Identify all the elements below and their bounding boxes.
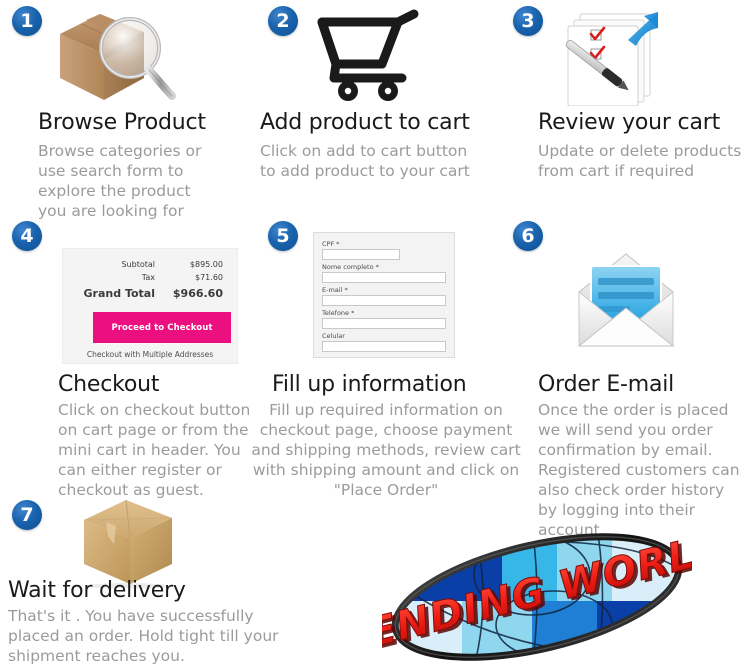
step-badge-2: 2 <box>268 6 298 36</box>
tax-value: $71.60 <box>167 272 223 283</box>
step-desc-6: Once the order is placed we will send yo… <box>538 400 743 540</box>
step-badge-4: 4 <box>12 221 42 251</box>
email-input[interactable] <box>322 295 446 306</box>
step-title-7: Wait for delivery <box>8 578 186 603</box>
cart-totals-table: Subtotal $895.00 Tax $71.60 Grand Total … <box>75 257 225 303</box>
step-desc-3: Update or delete products from cart if r… <box>538 141 743 181</box>
checkout-multiple-addresses-link[interactable]: Checkout with Multiple Addresses <box>75 350 225 359</box>
checkout-form-panel: CPF * Nome completo * E-mail * Telefone … <box>313 232 455 358</box>
step-desc-7: That's it . You have successfully placed… <box>8 606 298 666</box>
how-to-order-infographic: 1 <box>0 0 750 670</box>
step-badge-7: 7 <box>12 500 42 530</box>
telefone-label: Telefone * <box>322 309 446 317</box>
form-field-nome-completo: Nome completo * <box>322 263 446 283</box>
celular-input[interactable] <box>322 341 446 352</box>
table-row: Subtotal $895.00 <box>77 259 223 270</box>
table-row: Grand Total $966.60 <box>77 285 223 301</box>
step-badge-1: 1 <box>12 6 42 36</box>
table-row: Tax $71.60 <box>77 272 223 283</box>
step-title-3: Review your cart <box>538 110 720 135</box>
step-title-1: Browse Product <box>38 110 206 135</box>
step-badge-6: 6 <box>513 221 543 251</box>
nome-completo-label: Nome completo * <box>322 263 446 271</box>
cart-summary-panel: Subtotal $895.00 Tax $71.60 Grand Total … <box>62 248 238 364</box>
step-title-2: Add product to cart <box>260 110 470 135</box>
email-label: E-mail * <box>322 286 446 294</box>
cpf-input[interactable] <box>322 249 400 260</box>
nome-completo-input[interactable] <box>322 272 446 283</box>
step-title-4: Checkout <box>58 372 159 397</box>
shipping-box-icon <box>72 498 182 588</box>
subtotal-value: $895.00 <box>167 259 223 270</box>
open-envelope-icon <box>565 248 687 360</box>
step-badge-3: 3 <box>513 6 543 36</box>
grand-total-value: $966.60 <box>167 285 223 301</box>
step-desc-2: Click on add to cart button to add produ… <box>260 141 475 181</box>
form-field-telefone: Telefone * <box>322 309 446 329</box>
celular-label: Celular <box>322 332 446 340</box>
proceed-to-checkout-button[interactable]: Proceed to Checkout <box>93 312 231 343</box>
vending-world-logo: VENDING WORLD VENDING WORLD <box>382 527 692 667</box>
step-title-6: Order E-mail <box>538 372 674 397</box>
step-badge-5: 5 <box>268 221 298 251</box>
step-desc-5: Fill up required information on checkout… <box>250 400 522 500</box>
telefone-input[interactable] <box>322 318 446 329</box>
cart-totals-body: Subtotal $895.00 Tax $71.60 Grand Total … <box>77 259 223 301</box>
checklist-pen-arrow-icon <box>558 6 678 106</box>
box-magnifier-icon <box>52 8 187 108</box>
tax-label: Tax <box>77 272 165 283</box>
step-desc-1: Browse categories or use search form to … <box>38 141 213 221</box>
step-title-5: Fill up information <box>272 372 466 397</box>
step-desc-4: Click on checkout button on cart page or… <box>58 400 253 500</box>
form-field-cpf: CPF * <box>322 240 446 260</box>
cpf-label: CPF * <box>322 240 446 248</box>
shopping-cart-icon <box>310 6 440 106</box>
subtotal-label: Subtotal <box>77 259 165 270</box>
grand-total-label: Grand Total <box>77 285 165 301</box>
form-field-celular: Celular <box>322 332 446 352</box>
form-field-email: E-mail * <box>322 286 446 306</box>
